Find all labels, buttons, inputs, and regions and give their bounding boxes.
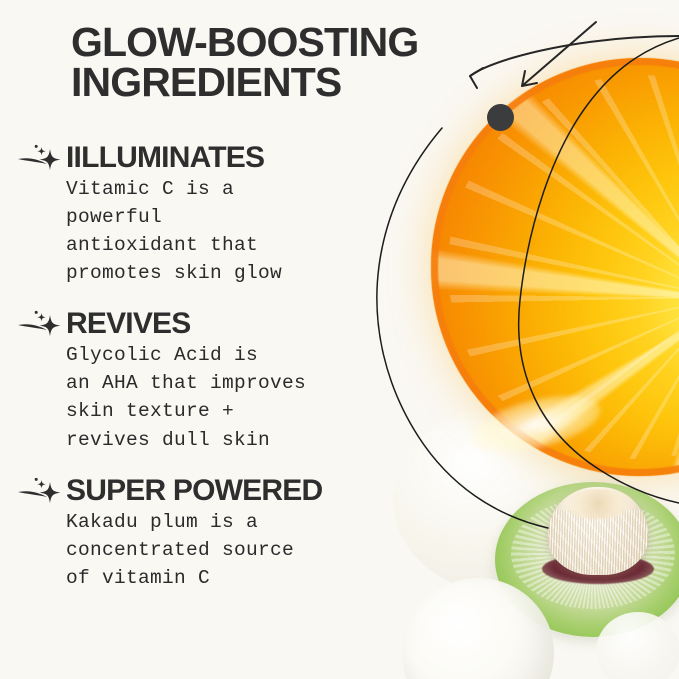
dark-marker-dot xyxy=(487,104,514,131)
benefits-list: IILLUMINATES Vitamic C is a powerful ant… xyxy=(0,143,420,614)
text-column: GLOW-BOOSTING INGREDIENTS IILLUMINATES V… xyxy=(0,0,420,679)
benefit-body-revives: Glycolic Acid is an AHA that improves sk… xyxy=(0,341,420,453)
arrow-head-left xyxy=(470,68,483,88)
small-gel-droplet xyxy=(596,612,679,679)
benefit-title-super-powered: SUPER POWERED xyxy=(66,476,322,506)
benefit-body-illuminates: Vitamic C is a powerful antioxidant that… xyxy=(0,175,420,287)
benefit-item-super-powered: SUPER POWERED Kakadu plum is a concentra… xyxy=(0,476,420,592)
benefit-heading-row: IILLUMINATES xyxy=(16,143,420,173)
kakadu-plum-base xyxy=(542,554,654,584)
green-lime-slice-image xyxy=(495,482,679,637)
sparkle-icon xyxy=(16,309,62,339)
pearl-gel-droplet xyxy=(402,578,554,679)
benefit-item-illuminates: IILLUMINATES Vitamic C is a powerful ant… xyxy=(0,143,420,287)
benefit-title-revives: REVIVES xyxy=(66,309,190,339)
translucent-gel-blob xyxy=(393,405,623,595)
sparkle-icon xyxy=(16,476,62,506)
arrow-head-diagonal xyxy=(522,71,537,86)
sparkle-icon xyxy=(16,143,62,173)
benefit-body-super-powered: Kakadu plum is a concentrated source of … xyxy=(0,508,420,592)
ingredients-infographic: GLOW-BOOSTING INGREDIENTS IILLUMINATES V… xyxy=(0,0,679,679)
page-title: GLOW-BOOSTING INGREDIENTS xyxy=(71,22,471,102)
orange-rind-edge xyxy=(431,58,679,476)
kakadu-plum-image xyxy=(548,487,648,575)
orange-citrus-slice-image xyxy=(431,58,679,476)
orange-highlight xyxy=(466,385,606,464)
benefit-heading-row: REVIVES xyxy=(16,309,420,339)
benefit-heading-row: SUPER POWERED xyxy=(16,476,420,506)
benefit-item-revives: REVIVES Glycolic Acid is an AHA that imp… xyxy=(0,309,420,453)
benefit-title-illuminates: IILLUMINATES xyxy=(66,143,264,173)
